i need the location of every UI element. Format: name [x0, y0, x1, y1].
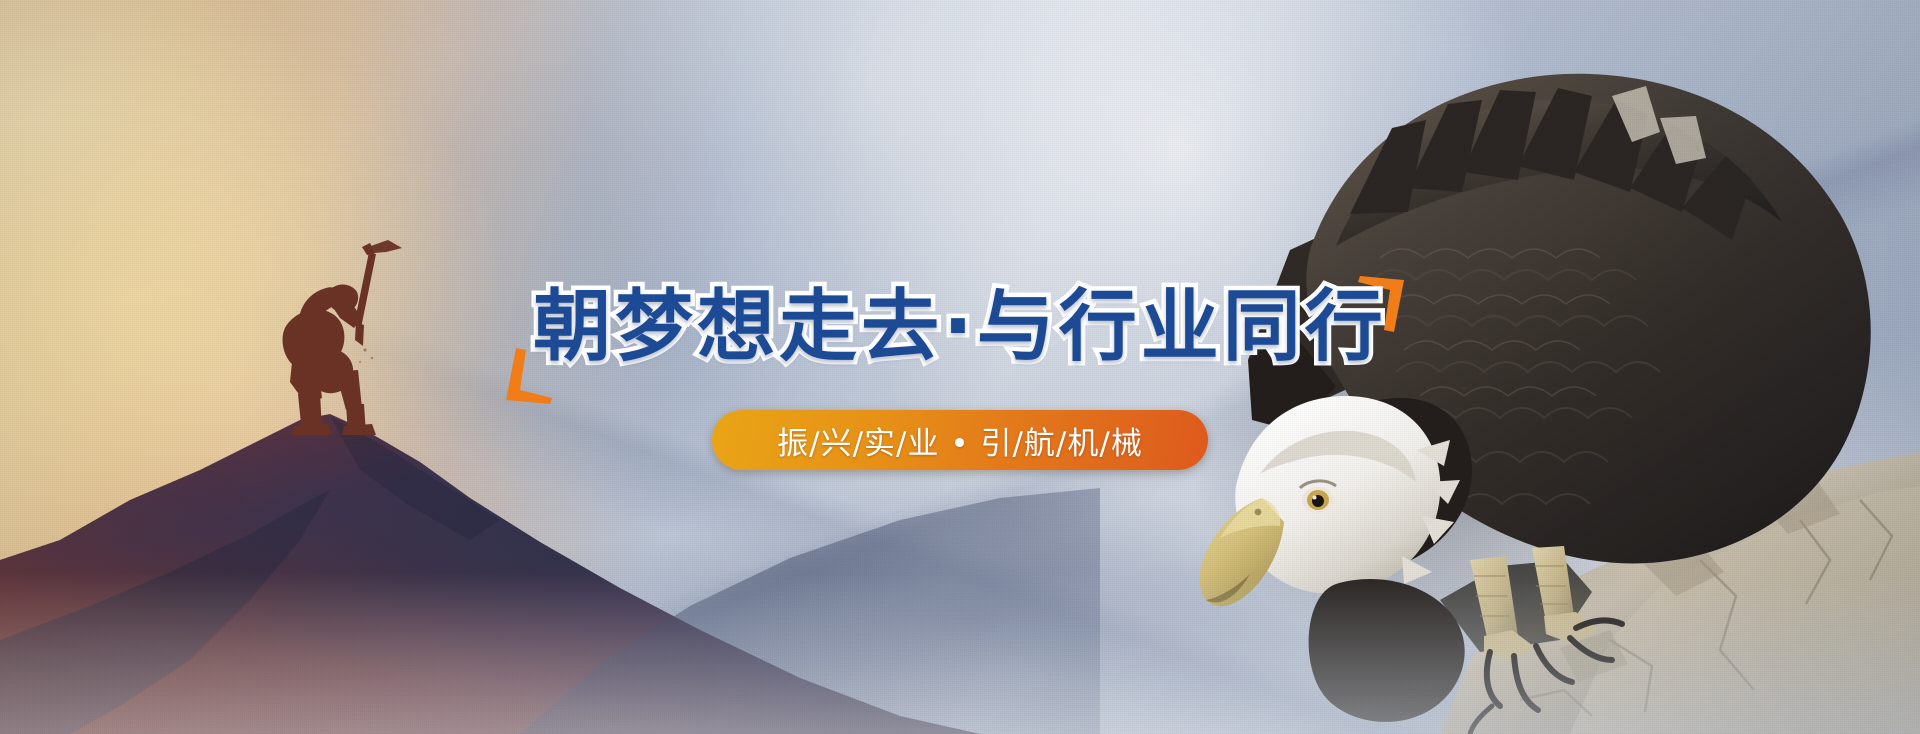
hero-banner: 朝梦想走去·与行业同行 振/兴/实/业 • 引/航/机/械: [0, 0, 1920, 734]
film-grain: [0, 0, 1920, 734]
